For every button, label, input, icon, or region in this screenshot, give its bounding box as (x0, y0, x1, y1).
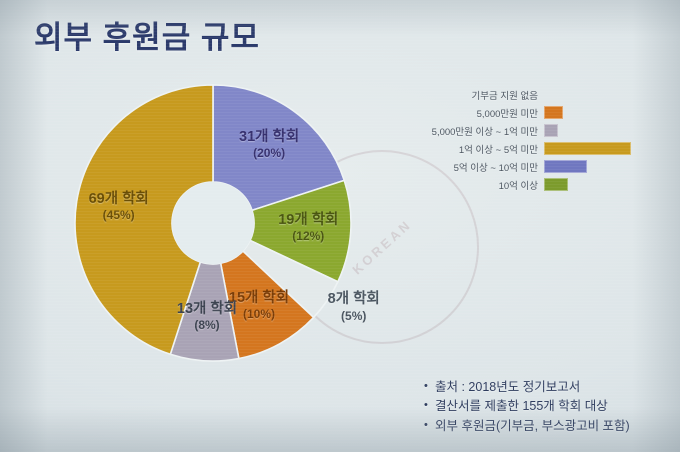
bar-legend-label: 5,000만원 미만 (396, 106, 544, 120)
bar[interactable] (544, 160, 587, 173)
bar-legend-label: 1억 이상 ~ 5억 미만 (396, 142, 544, 156)
slide-canvas: 외부 후원금 규모 KOREAN 31개 학회(20%)19개 학회(12%)8… (0, 0, 680, 452)
bar-legend-label: 5,000만원 이상 ~ 1억 미만 (396, 124, 544, 138)
bar-legend-row[interactable]: 5,000만원 미만 (396, 104, 676, 122)
donut-slice-label: 69개 학회(45%) (74, 191, 164, 222)
donut-slice-count: 69개 학회 (74, 191, 164, 208)
note-item: •출처 : 2018년도 정기보고서 (424, 378, 676, 397)
notes-list: •출처 : 2018년도 정기보고서•결산서를 제출한 155개 학회 대상•외… (424, 378, 676, 436)
bar-legend-row[interactable]: 기부금 지원 없음 (396, 86, 676, 104)
bar-legend-row[interactable]: 1억 이상 ~ 5억 미만 (396, 140, 676, 158)
donut-hole (172, 182, 254, 264)
bar-track (544, 176, 676, 194)
watermark-label: KOREAN (349, 217, 414, 278)
donut-slice-percent: (5%) (309, 309, 399, 323)
donut-slice-count: 8개 학회 (309, 291, 399, 308)
bar-legend-row[interactable]: 5억 이상 ~ 10억 미만 (396, 158, 676, 176)
bar-track (544, 104, 676, 122)
note-text: 외부 후원금(기부금, 부스광고비 포함) (435, 417, 676, 436)
donut-slice-label: 13개 학회(8%) (162, 301, 252, 332)
note-text: 결산서를 제출한 155개 학회 대상 (435, 397, 676, 416)
donut-slice-count: 13개 학회 (162, 301, 252, 318)
bar-legend-label: 5억 이상 ~ 10억 미만 (396, 160, 544, 174)
bar[interactable] (544, 142, 631, 155)
donut-slice-percent: (20%) (224, 146, 314, 160)
note-item: •결산서를 제출한 155개 학회 대상 (424, 397, 676, 416)
donut-slice-percent: (8%) (162, 318, 252, 332)
bar[interactable] (544, 106, 563, 119)
donut-slice-percent: (45%) (74, 208, 164, 222)
page-title: 외부 후원금 규모 (34, 12, 260, 57)
bar-legend-row[interactable]: 10억 이상 (396, 176, 676, 194)
donut-slice-label: 8개 학회(5%) (309, 291, 399, 322)
donut-slice-label: 31개 학회(20%) (224, 129, 314, 160)
bar[interactable] (544, 178, 568, 191)
bar-track (544, 86, 676, 104)
bar[interactable] (544, 124, 558, 137)
bullet-dot-icon: • (424, 397, 435, 414)
donut-slice-count: 19개 학회 (263, 212, 353, 229)
donut-slice-count: 31개 학회 (224, 129, 314, 146)
bar-legend-label: 기부금 지원 없음 (396, 88, 544, 102)
donut-chart: 31개 학회(20%)19개 학회(12%)8개 학회(5%)15개 학회(10… (68, 78, 358, 368)
note-text: 출처 : 2018년도 정기보고서 (435, 378, 676, 397)
bar-legend-label: 10억 이상 (396, 178, 544, 192)
bullet-dot-icon: • (424, 417, 435, 434)
bar-track (544, 122, 676, 140)
donut-slice-percent: (12%) (263, 229, 353, 243)
bar-track (544, 158, 676, 176)
bullet-dot-icon: • (424, 378, 435, 395)
note-item: •외부 후원금(기부금, 부스광고비 포함) (424, 417, 676, 436)
bar-chart-legend: 기부금 지원 없음5,000만원 미만5,000만원 이상 ~ 1억 미만1억 … (396, 86, 676, 194)
bar-track (544, 140, 676, 158)
donut-slice-label: 19개 학회(12%) (263, 212, 353, 243)
bar-legend-row[interactable]: 5,000만원 이상 ~ 1억 미만 (396, 122, 676, 140)
